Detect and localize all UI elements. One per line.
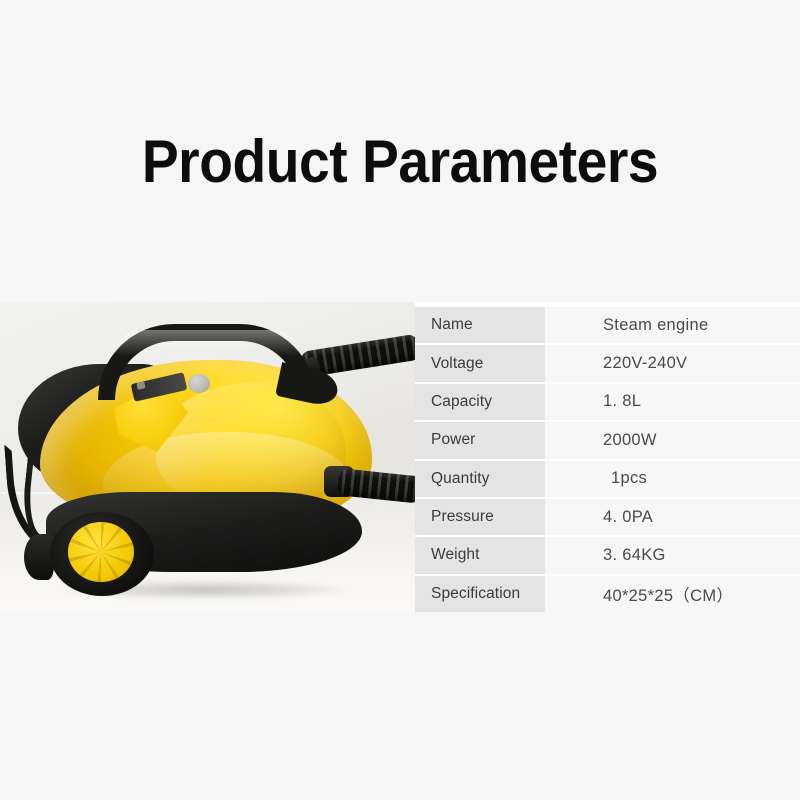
spec-label: Capacity [415, 384, 545, 420]
table-row: Name Steam engine [415, 307, 800, 343]
spec-label: Name [415, 307, 545, 343]
table-row: Pressure 4. 0PA [415, 499, 800, 535]
spec-value: Steam engine [545, 307, 800, 343]
table-row: Quantity 1pcs [415, 461, 800, 497]
table-row: Power 2000W [415, 422, 800, 458]
spec-value: 40*25*25（CM） [545, 576, 800, 612]
page-title: Product Parameters [32, 126, 768, 198]
product-parameters-page: Product Parameters [0, 0, 800, 800]
product-image [0, 302, 415, 612]
spec-value: 3. 64KG [545, 537, 800, 573]
table-row: Weight 3. 64KG [415, 537, 800, 573]
spec-value: 220V-240V [545, 345, 800, 381]
pressure-gauge [188, 374, 210, 393]
spec-table: Name Steam engine Voltage 220V-240V Capa… [415, 302, 800, 612]
spec-label: Weight [415, 537, 545, 573]
spec-value: 1pcs [545, 461, 800, 497]
spec-label: Quantity [415, 461, 545, 497]
spec-value: 2000W [545, 422, 800, 458]
spec-label: Voltage [415, 345, 545, 381]
contact-shadow [54, 580, 354, 600]
spec-label: Specification [415, 576, 545, 612]
spec-label: Power [415, 422, 545, 458]
spec-value: 1. 8L [545, 384, 800, 420]
table-row: Specification 40*25*25（CM） [415, 576, 800, 612]
spec-value: 4. 0PA [545, 499, 800, 535]
table-row: Capacity 1. 8L [415, 384, 800, 420]
content-band: Name Steam engine Voltage 220V-240V Capa… [0, 302, 800, 612]
spec-label: Pressure [415, 499, 545, 535]
table-row: Voltage 220V-240V [415, 345, 800, 381]
wheel-center-cap [91, 542, 111, 561]
steam-cleaner-illustration [6, 316, 406, 602]
